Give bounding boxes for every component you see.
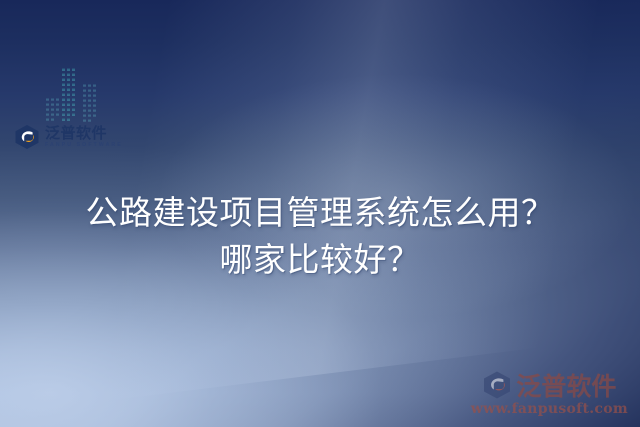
watermark-logo-row: 泛普软件 bbox=[482, 367, 616, 403]
headline: 公路建设项目管理系统怎么用？ 哪家比较好？ bbox=[0, 190, 640, 284]
watermark: 泛普软件 www.fanpusoft.com bbox=[471, 367, 628, 417]
headline-line-1: 公路建设项目管理系统怎么用？ bbox=[0, 190, 640, 237]
brand-name-en: FANPU SOFTWARE bbox=[45, 143, 123, 148]
promo-banner: 泛普软件 FANPU SOFTWARE 公路建设项目管理系统怎么用？ 哪家比较好… bbox=[0, 0, 640, 427]
fanpu-logo-mark-icon bbox=[14, 124, 40, 150]
headline-line-2: 哪家比较好？ bbox=[0, 237, 640, 284]
brand-logo: 泛普软件 FANPU SOFTWARE bbox=[14, 124, 123, 150]
watermark-logo-mark-icon bbox=[482, 370, 512, 400]
pixel-city-icon bbox=[44, 54, 114, 126]
watermark-brand-name: 泛普软件 bbox=[516, 367, 616, 403]
brand-name-cn: 泛普软件 bbox=[45, 126, 123, 141]
watermark-url: www.fanpusoft.com bbox=[471, 401, 628, 417]
